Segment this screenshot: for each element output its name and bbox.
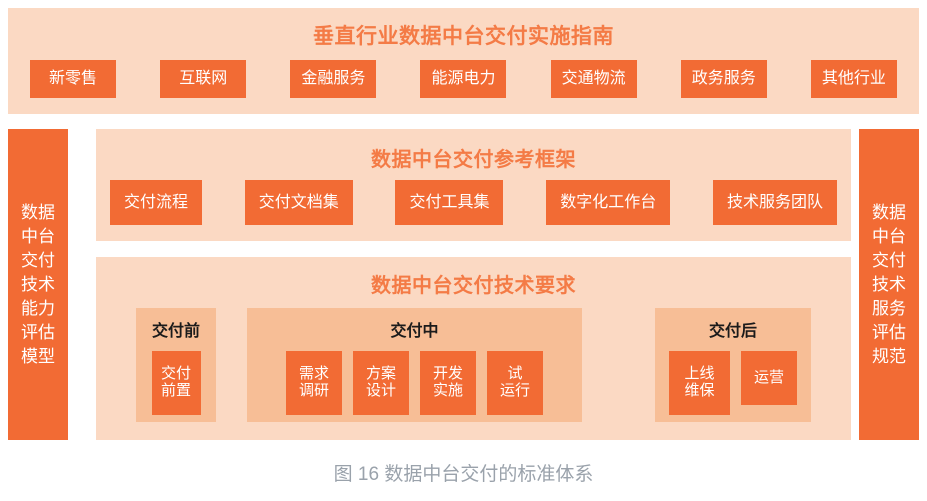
task-chip-operations[interactable]: 运营 <box>741 351 797 405</box>
right-rail-char: 服务 <box>872 300 906 317</box>
stage-in-delivery-items: 需求调研 方案设计 开发实施 试运行 <box>286 351 543 415</box>
industry-chip-internet[interactable]: 互联网 <box>160 60 246 98</box>
stage-pre-delivery-label: 交付前 <box>152 317 200 341</box>
right-rail-char: 交付 <box>872 252 906 269</box>
left-rail-char: 技术 <box>21 276 55 293</box>
delivery-technical-requirements-panel: 数据中台交付技术要求 交付前 交付前置 交付中 需求调研 方案设计 开发实施 试… <box>96 257 851 440</box>
left-rail-char: 评估 <box>21 324 55 341</box>
right-rail-char: 中台 <box>872 228 906 245</box>
industry-chip-transport[interactable]: 交通物流 <box>551 60 637 98</box>
delivery-reference-framework-title: 数据中台交付参考框架 <box>96 129 851 172</box>
task-chip-development-delivery[interactable]: 开发实施 <box>420 351 476 415</box>
left-rail-capability-model: 数据 中台 交付 技术 能力 评估 模型 <box>8 129 68 440</box>
delivery-reference-framework-panel: 数据中台交付参考框架 交付流程 交付文档集 交付工具集 数字化工作台 技术服务团… <box>96 129 851 241</box>
task-chip-trial-run[interactable]: 试运行 <box>487 351 543 415</box>
stage-pre-delivery-items: 交付前置 <box>152 351 201 415</box>
industry-chip-finance[interactable]: 金融服务 <box>290 60 376 98</box>
vertical-industry-guide-title: 垂直行业数据中台交付实施指南 <box>8 8 919 50</box>
stage-pre-delivery: 交付前 交付前置 <box>136 308 216 422</box>
delivery-stage-row: 交付前 交付前置 交付中 需求调研 方案设计 开发实施 试运行 交付后 上线维保… <box>136 308 811 422</box>
framework-chip-document-set[interactable]: 交付文档集 <box>245 180 353 225</box>
vertical-industry-guide-panel: 垂直行业数据中台交付实施指南 新零售 互联网 金融服务 能源电力 交通物流 政务… <box>8 8 919 114</box>
stage-post-delivery: 交付后 上线维保 运营 <box>655 308 811 422</box>
task-chip-delivery-preparation[interactable]: 交付前置 <box>152 351 201 415</box>
framework-chip-toolset[interactable]: 交付工具集 <box>395 180 503 225</box>
task-chip-golive-maintenance[interactable]: 上线维保 <box>669 351 730 415</box>
left-rail-char: 交付 <box>21 252 55 269</box>
left-rail-char: 中台 <box>21 228 55 245</box>
framework-chip-service-team[interactable]: 技术服务团队 <box>713 180 837 225</box>
delivery-technical-requirements-title: 数据中台交付技术要求 <box>96 257 851 298</box>
figure-caption: 图 16 数据中台交付的标准体系 <box>0 459 927 486</box>
stage-post-delivery-label: 交付后 <box>709 317 757 341</box>
right-rail-char: 评估 <box>872 324 906 341</box>
left-rail-char: 能力 <box>21 300 55 317</box>
stage-in-delivery-label: 交付中 <box>390 317 438 341</box>
stage-in-delivery: 交付中 需求调研 方案设计 开发实施 试运行 <box>247 308 582 422</box>
industry-chip-row: 新零售 互联网 金融服务 能源电力 交通物流 政务服务 其他行业 <box>8 60 919 98</box>
framework-chip-delivery-process[interactable]: 交付流程 <box>110 180 202 225</box>
stage-post-delivery-items: 上线维保 运营 <box>669 351 797 415</box>
right-rail-char: 技术 <box>872 276 906 293</box>
industry-chip-government[interactable]: 政务服务 <box>681 60 767 98</box>
right-rail-char: 数据 <box>872 204 906 221</box>
framework-chip-digital-workbench[interactable]: 数字化工作台 <box>546 180 670 225</box>
left-rail-char: 数据 <box>21 204 55 221</box>
framework-chip-row: 交付流程 交付文档集 交付工具集 数字化工作台 技术服务团队 <box>110 180 837 225</box>
task-chip-requirements-research[interactable]: 需求调研 <box>286 351 342 415</box>
industry-chip-new-retail[interactable]: 新零售 <box>30 60 116 98</box>
left-rail-char: 模型 <box>21 348 55 365</box>
right-rail-service-spec: 数据 中台 交付 技术 服务 评估 规范 <box>859 129 919 440</box>
task-chip-solution-design[interactable]: 方案设计 <box>353 351 409 415</box>
industry-chip-energy-power[interactable]: 能源电力 <box>420 60 506 98</box>
industry-chip-other[interactable]: 其他行业 <box>811 60 897 98</box>
right-rail-char: 规范 <box>872 348 906 365</box>
